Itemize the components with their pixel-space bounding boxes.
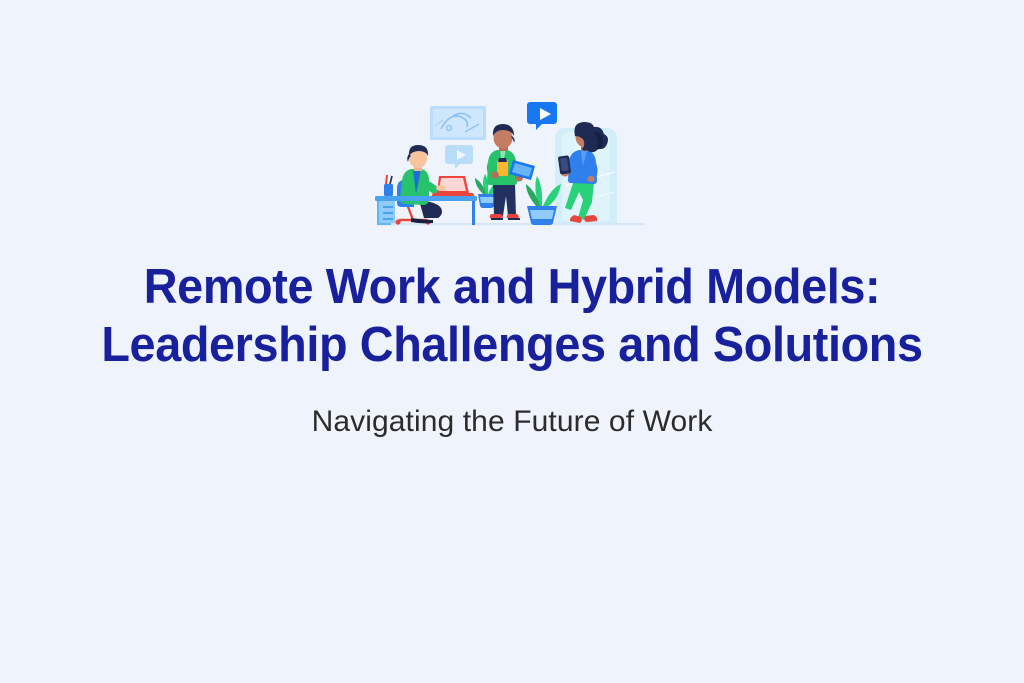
video-frame-icon: [430, 106, 486, 140]
play-button-icon-small: [445, 145, 473, 169]
slide-text-block: Remote Work and Hybrid Models: Leadershi…: [0, 258, 1024, 441]
title-slide: Remote Work and Hybrid Models: Leadershi…: [0, 0, 1024, 683]
remote-work-illustration: [369, 96, 655, 244]
play-button-icon-large: [527, 102, 557, 130]
standing-worker-with-tablet: [487, 124, 535, 220]
page-title: Remote Work and Hybrid Models: Leadershi…: [23, 258, 1001, 374]
page-subtitle: Navigating the Future of Work: [0, 403, 1024, 441]
circuit-board-pattern: [0, 453, 1024, 683]
